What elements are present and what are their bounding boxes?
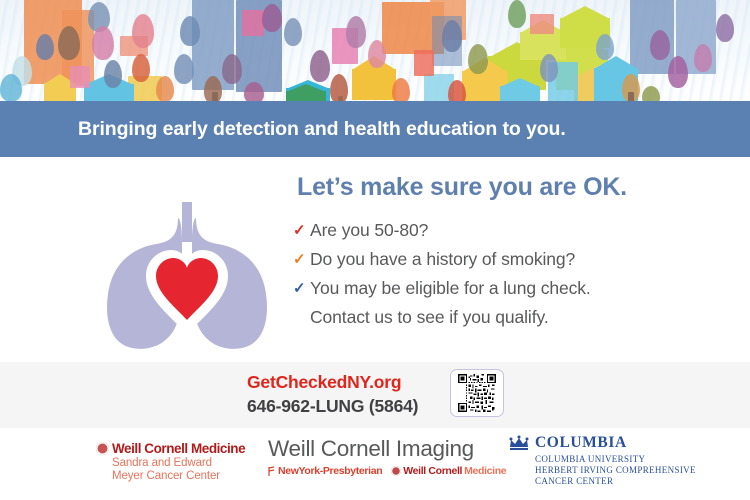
cornell-seal-icon — [96, 442, 109, 455]
art-tree-7 — [132, 14, 154, 48]
art-tree-8 — [222, 54, 242, 84]
wcm-lockup: Weill Cornell Medicine — [96, 441, 245, 456]
art-tree-2 — [104, 60, 122, 88]
columbia-lockup: COLUMBIA — [508, 435, 696, 451]
checkmark-icon: ✓ — [293, 247, 310, 272]
nyp-logo-name: NewYork-Presbyterian — [278, 465, 382, 477]
list-item: ✓ Do you have a history of smoking? — [293, 247, 723, 272]
columbia-logo-name: COLUMBIA — [535, 435, 627, 451]
columbia-logo-subtitle-line3: CANCER CENTER — [535, 476, 696, 487]
watercolor-community-illustration — [0, 0, 750, 101]
wcm-partner-medicine: Medicine — [464, 465, 506, 477]
art-tree-4 — [92, 26, 114, 60]
art-block-salmon — [530, 14, 554, 34]
art-house-green-dark — [286, 84, 326, 101]
art-tree-13 — [442, 20, 462, 52]
art-block-red — [414, 50, 434, 76]
art-tree-16 — [540, 54, 558, 82]
tagline-banner: Bringing early detection and health educ… — [0, 101, 750, 157]
contact-band: GetCheckedNY.org 646-962-LUNG (5864) — [0, 362, 750, 428]
art-tree-34 — [36, 34, 54, 60]
lungs-with-heart-illustration — [96, 202, 278, 354]
eligibility-checklist: ✓ Are you 50-80? ✓ Do you have a history… — [293, 218, 723, 330]
art-tree-31 — [244, 82, 264, 101]
website-link[interactable]: GetCheckedNY.org — [247, 370, 418, 394]
art-trunk-1 — [212, 92, 218, 101]
list-item-continuation: Contact us to see if you qualify. — [293, 305, 723, 330]
crown-icon — [508, 435, 530, 451]
list-item: ✓ You may be eligible for a lung check. — [293, 276, 723, 301]
imaging-logo-title: Weill Cornell Imaging — [268, 436, 506, 462]
art-block-pink-3 — [242, 10, 264, 36]
art-tree-9 — [262, 4, 282, 32]
art-tree-30 — [156, 76, 174, 101]
art-tree-33 — [596, 34, 614, 60]
art-tree-10 — [284, 18, 302, 46]
health-education-poster: Bringing early detection and health educ… — [0, 0, 750, 500]
art-tree-25 — [392, 78, 410, 101]
list-item: ✓ Are you 50-80? — [293, 218, 723, 243]
tagline-text: Bringing early detection and health educ… — [0, 118, 566, 141]
wcm-logo-name: Weill Cornell Medicine — [112, 441, 245, 456]
wcm-logo-subtitle-line2: Meyer Cancer Center — [112, 470, 245, 483]
art-tree-14 — [468, 44, 488, 74]
list-item-label: Are you 50-80? — [310, 218, 428, 243]
imaging-partner-lockup: NewYork-Presbyterian Weill Cornell Medic… — [268, 465, 506, 477]
art-tree-22 — [0, 74, 22, 101]
art-tree-29 — [132, 54, 150, 82]
wcm-logo-subtitle-line1: Sandra and Edward — [112, 457, 245, 470]
art-tree-11 — [310, 50, 330, 82]
art-trunk-2 — [628, 92, 634, 101]
wcm-partner-name: Weill Cornell — [403, 465, 462, 477]
art-block-pink-4 — [70, 66, 90, 88]
art-tree-6 — [174, 54, 194, 84]
art-tree-5 — [180, 16, 200, 46]
art-house-cyan-3 — [500, 78, 540, 101]
nyp-mark-icon — [268, 466, 276, 477]
checkmark-icon: ✓ — [293, 276, 310, 301]
columbia-logo-subtitle-line2: HERBERT IRVING COMPREHENSIVE — [535, 465, 696, 476]
partner-logos: Weill Cornell Medicine Sandra and Edward… — [0, 428, 750, 500]
list-item-label: Do you have a history of smoking? — [310, 247, 575, 272]
main-content: Let’s make sure you are OK. ✓ Are you 50… — [0, 157, 750, 362]
page-title: Let’s make sure you are OK. — [297, 173, 627, 202]
art-tree-12 — [346, 16, 366, 48]
logo-columbia-cancer-center: COLUMBIA COLUMBIA UNIVERSITY HERBERT IRV… — [508, 435, 696, 487]
contact-info: GetCheckedNY.org 646-962-LUNG (5864) — [247, 370, 418, 418]
logo-weill-cornell-imaging: Weill Cornell Imaging NewYork-Presbyteri… — [268, 436, 506, 477]
art-tree-32 — [368, 40, 386, 68]
qr-code[interactable] — [450, 369, 504, 417]
cornell-seal-icon — [391, 466, 401, 476]
art-tree-20 — [716, 14, 734, 42]
checkmark-icon: ✓ — [293, 218, 310, 243]
logo-weill-cornell-medicine-meyer: Weill Cornell Medicine Sandra and Edward… — [96, 441, 245, 483]
phone-number[interactable]: 646-962-LUNG (5864) — [247, 394, 418, 418]
art-tree-1 — [58, 26, 80, 60]
art-tree-18 — [668, 56, 688, 88]
columbia-logo-subtitle-line1: COLUMBIA UNIVERSITY — [535, 454, 696, 465]
art-tree-15 — [508, 0, 526, 28]
art-tree-19 — [694, 44, 712, 72]
art-tree-17 — [650, 30, 670, 60]
list-item-label: You may be eligible for a lung check. — [310, 276, 591, 301]
